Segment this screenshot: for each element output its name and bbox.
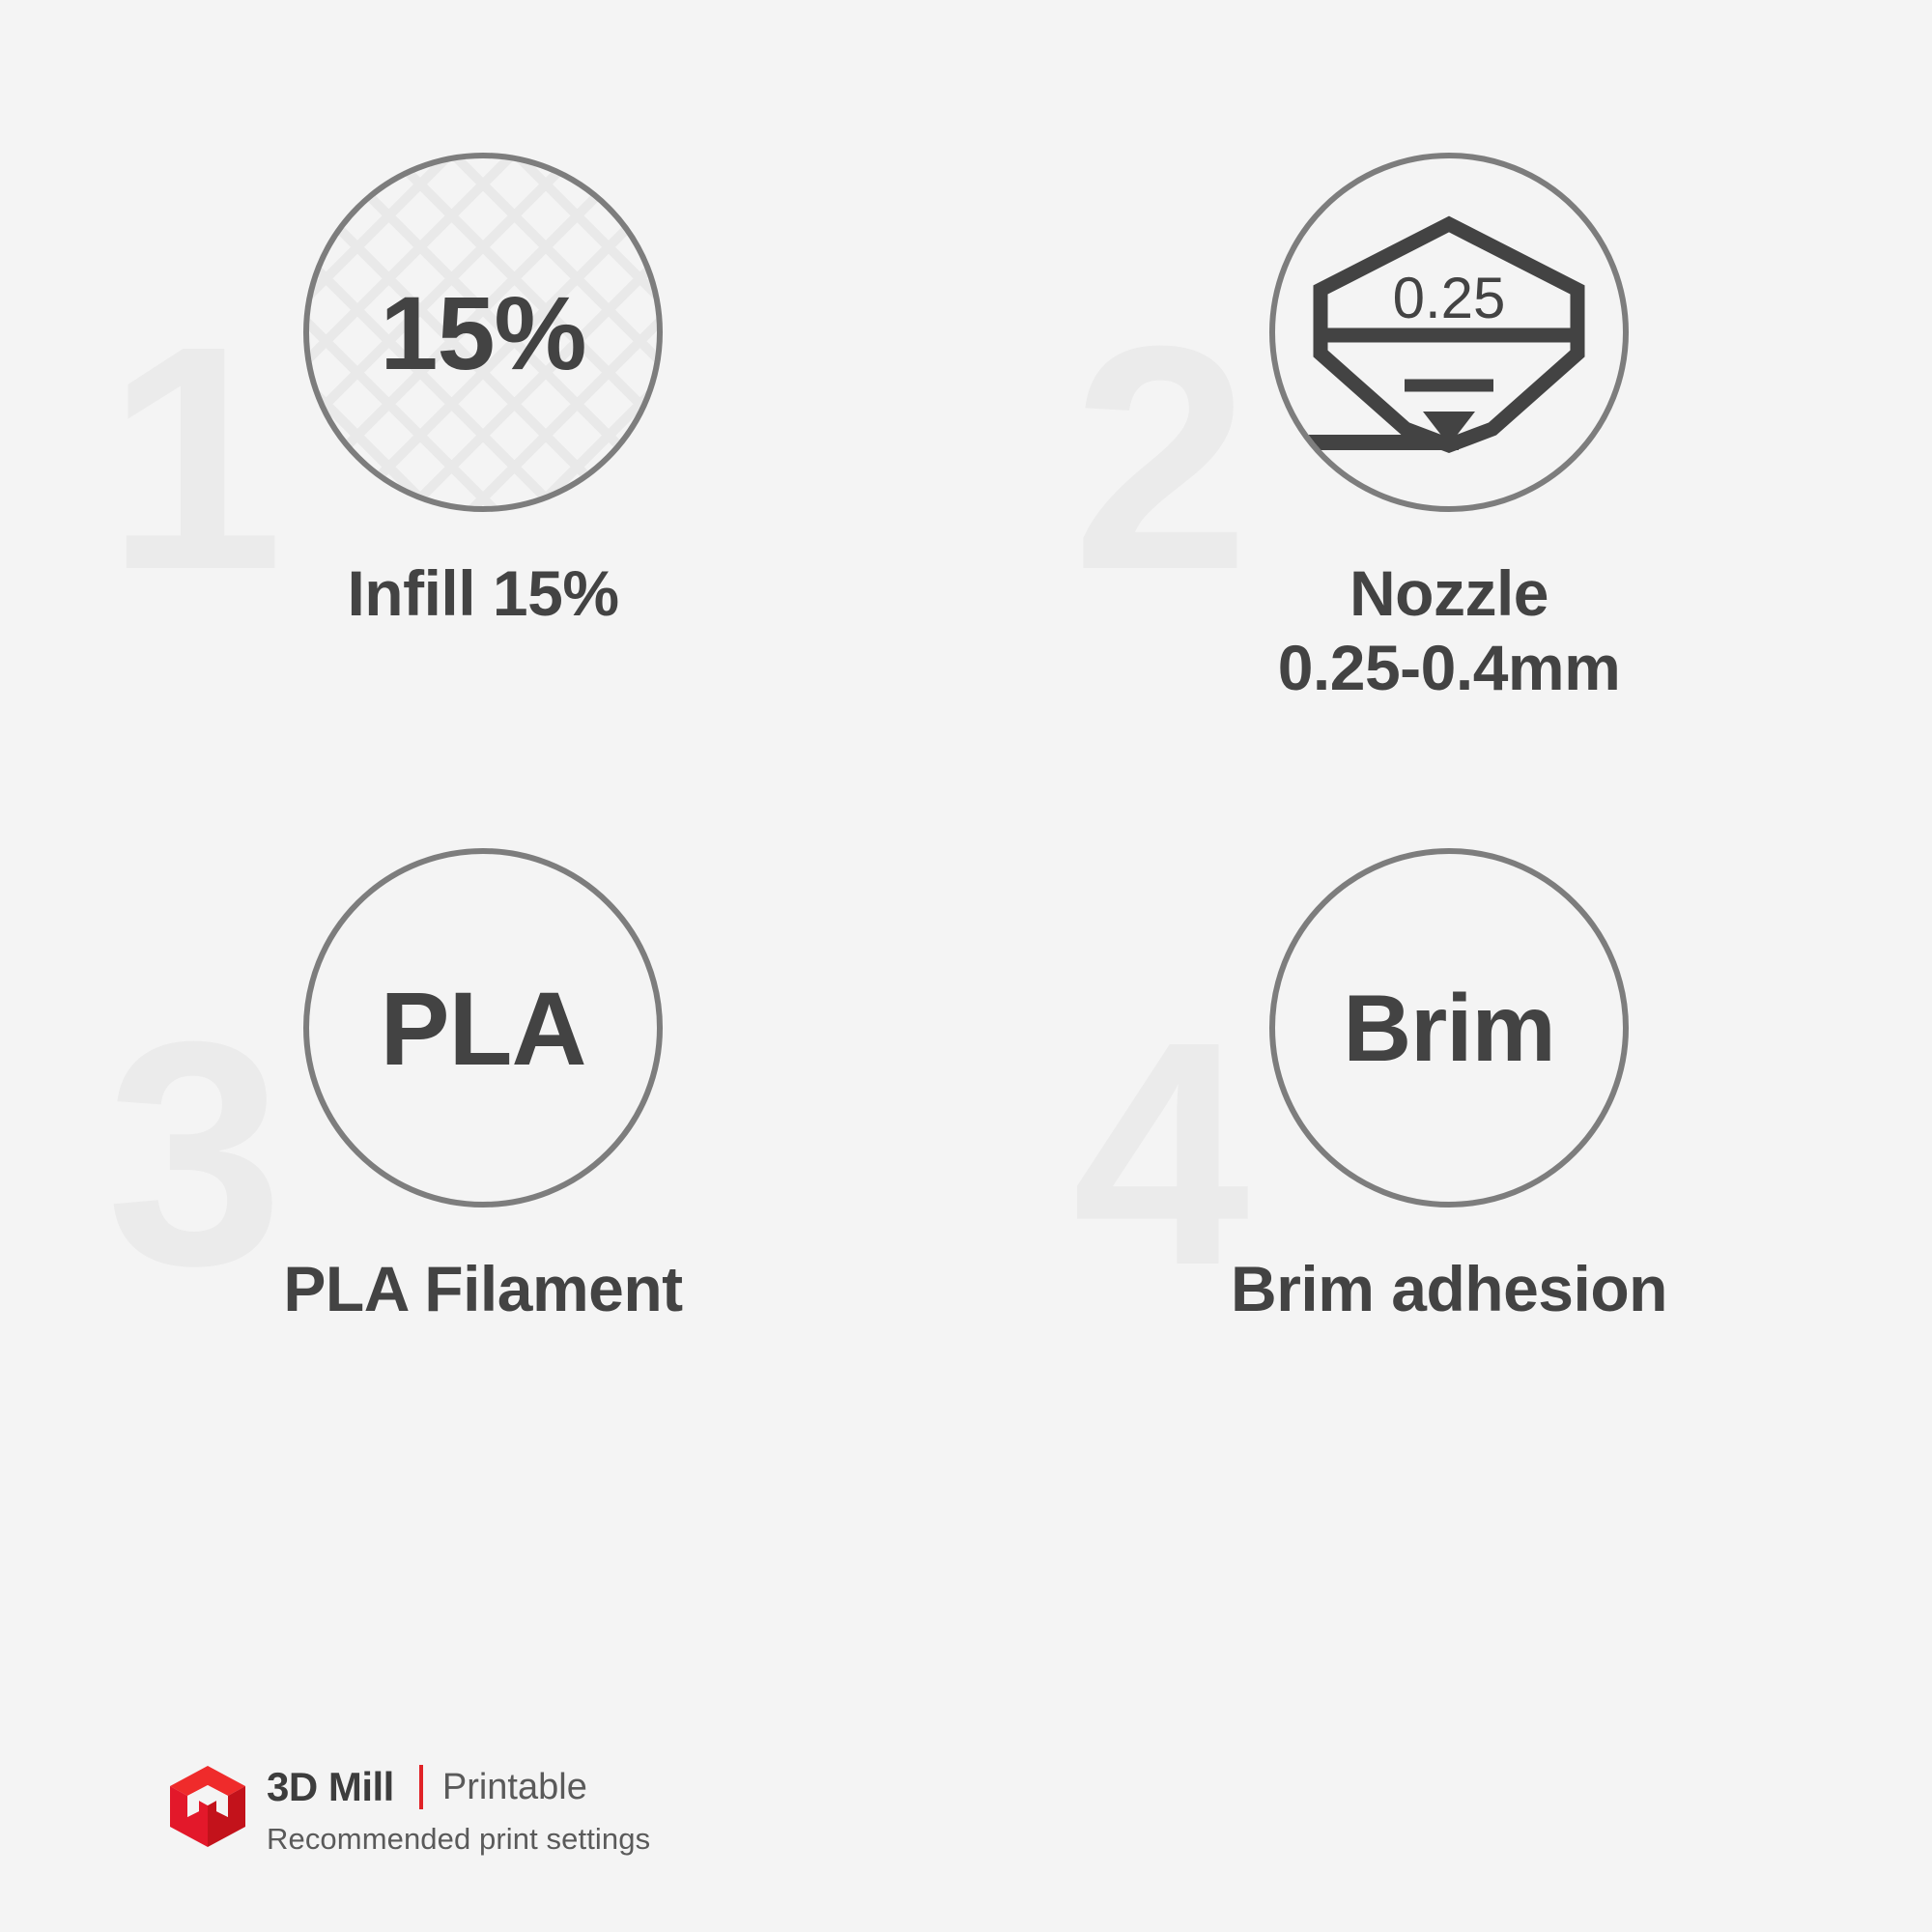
step-number-watermark-3: 3 [106,1029,278,1277]
brand-name: 3D Mill [267,1767,394,1807]
footer-title-row: 3D Mill Printable [267,1764,650,1810]
settings-card-infill[interactable]: 1 15% Infill 15% [0,145,966,840]
nozzle-caption: Nozzle 0.25-0.4mm [1278,556,1621,704]
infill-caption: Infill 15% [347,556,618,631]
footer-section-label: Printable [442,1769,587,1805]
footer-divider [419,1765,423,1809]
step-number-watermark-2: 2 [1072,333,1244,582]
settings-card-nozzle[interactable]: 2 0.25 Nozzle [966,145,1932,840]
footer-text-block: 3D Mill Printable Recommended print sett… [267,1764,650,1857]
infill-caption-line1: Infill 15% [347,556,618,631]
brim-caption: Brim adhesion [1231,1252,1667,1326]
pla-text-icon: PLA [381,968,586,1089]
filament-caption-line1: PLA Filament [283,1252,682,1326]
brim-text-icon: Brim [1343,974,1554,1083]
brim-caption-line1: Brim adhesion [1231,1252,1667,1326]
infill-value-label: 15% [380,272,585,393]
footer-tagline: Recommended print settings [267,1822,650,1857]
svg-text:0.25: 0.25 [1393,266,1506,330]
nozzle-caption-line1: Nozzle [1278,556,1621,631]
brim-circle: Brim [1269,848,1629,1207]
nozzle-circle: 0.25 [1269,153,1629,512]
cube-m-logo [170,1766,245,1847]
settings-grid: 1 15% Infill 15% 2 [0,145,1932,1536]
nozzle-caption-line2: 0.25-0.4mm [1278,631,1621,705]
infographic-canvas: 1 15% Infill 15% 2 [0,0,1932,1932]
settings-card-brim[interactable]: 4 Brim Brim adhesion [966,840,1932,1536]
footer: 3D Mill Printable Recommended print sett… [170,1764,650,1857]
pla-circle: PLA [303,848,663,1207]
settings-card-filament[interactable]: 3 PLA PLA Filament [0,840,966,1536]
step-number-watermark-1: 1 [106,333,278,582]
nozzle-icon: 0.25 [1304,207,1594,458]
infill-hatch-icon: 15% [303,153,663,512]
step-number-watermark-4: 4 [1072,1029,1244,1277]
filament-caption: PLA Filament [283,1252,682,1326]
